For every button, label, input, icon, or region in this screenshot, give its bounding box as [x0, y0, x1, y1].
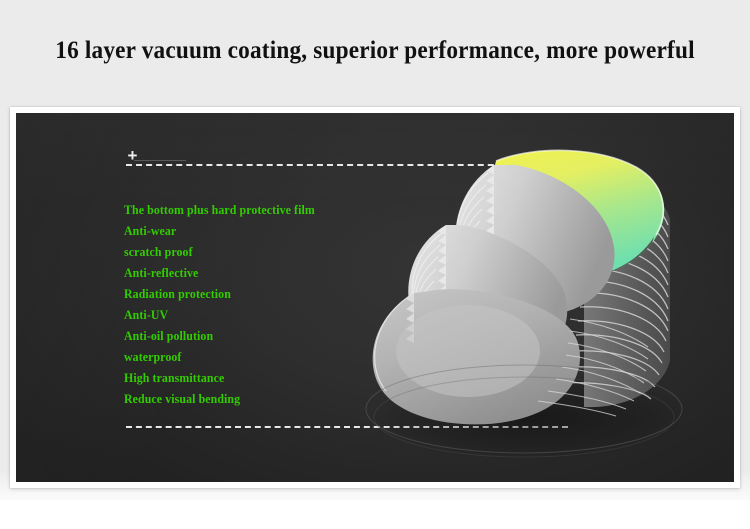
list-item: Anti-reflective — [124, 263, 315, 284]
illustration-panel: + The bottom plus hard protective film A… — [16, 113, 734, 482]
feature-list: The bottom plus hard protective film Ant… — [124, 200, 325, 410]
lens-layer-stack-illustration — [356, 133, 696, 463]
list-item: scratch proof — [124, 242, 315, 263]
list-item: Anti-UV — [124, 305, 315, 326]
guide-tick-line — [134, 160, 186, 161]
illustration-panel-frame: + The bottom plus hard protective film A… — [10, 107, 740, 488]
list-item: waterproof — [124, 347, 315, 368]
page-title: 16 layer vacuum coating, superior perfor… — [26, 37, 724, 65]
list-item: Reduce visual bending — [124, 389, 315, 410]
list-item: The bottom plus hard protective film — [124, 200, 315, 221]
list-item: High transmittance — [124, 368, 315, 389]
list-item: Anti-oil pollution — [124, 326, 315, 347]
list-item: Anti-wear — [124, 221, 315, 242]
list-item: Radiation protection — [124, 284, 315, 305]
